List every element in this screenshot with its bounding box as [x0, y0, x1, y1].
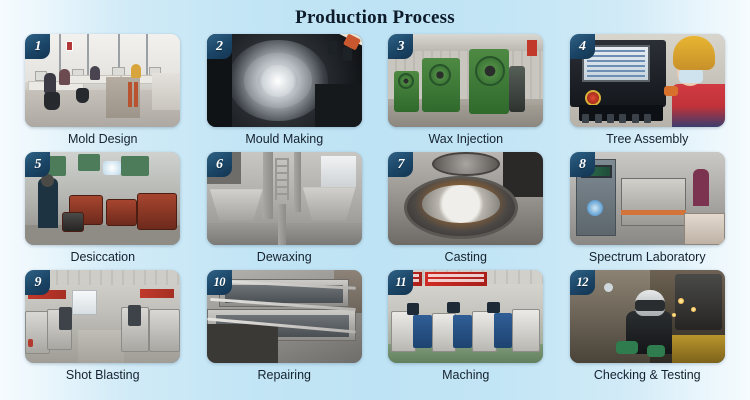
step-number-badge-7: 7 — [388, 152, 413, 177]
step-thumbnail-wrap-5[interactable]: 5 — [25, 152, 180, 245]
step-number-badge-2: 2 — [207, 34, 232, 59]
step-thumbnail-wrap-1[interactable]: 1 — [25, 34, 180, 127]
step-caption-5: Desiccation — [70, 251, 135, 265]
process-step-6[interactable]: 6 Dewaxing — [198, 152, 372, 270]
step-number-badge-3: 3 — [388, 34, 413, 59]
step-thumbnail-wrap-11[interactable]: 11 — [388, 270, 543, 363]
process-step-9[interactable]: 9 Shot Blasting — [16, 270, 190, 388]
step-caption-3: Wax Injection — [428, 133, 503, 147]
process-step-7[interactable]: 7 Casting — [379, 152, 553, 270]
step-caption-6: Dewaxing — [257, 251, 312, 265]
step-number-badge-4: 4 — [570, 34, 595, 59]
step-caption-10: Repairing — [257, 369, 311, 383]
step-caption-9: Shot Blasting — [66, 369, 140, 383]
process-step-12[interactable]: 12 Checking & Testing — [561, 270, 735, 388]
step-thumbnail-wrap-2[interactable]: 2 — [207, 34, 362, 127]
step-number-badge-11: 11 — [388, 270, 413, 295]
step-caption-7: Casting — [445, 251, 487, 265]
step-number-badge-5: 5 — [25, 152, 50, 177]
step-caption-8: Spectrum Laboratory — [589, 251, 706, 265]
process-step-1[interactable]: 1 Mold Design — [16, 34, 190, 152]
step-caption-1: Mold Design — [68, 133, 137, 147]
title-bar: Production Process — [0, 0, 750, 30]
step-caption-4: Tree Assembly — [606, 133, 688, 147]
step-number-badge-8: 8 — [570, 152, 595, 177]
step-number-badge-12: 12 — [570, 270, 595, 295]
step-thumbnail-wrap-9[interactable]: 9 — [25, 270, 180, 363]
step-thumbnail-wrap-6[interactable]: 6 — [207, 152, 362, 245]
step-thumbnail-wrap-8[interactable]: 8 — [570, 152, 725, 245]
step-thumbnail-wrap-10[interactable]: 10 — [207, 270, 362, 363]
process-step-5[interactable]: 5 Desiccation — [16, 152, 190, 270]
step-caption-2: Mould Making — [245, 133, 323, 147]
step-number-badge-10: 10 — [207, 270, 232, 295]
process-step-2[interactable]: 2 Mould Making — [198, 34, 372, 152]
step-caption-11: Maching — [442, 369, 489, 383]
step-thumbnail-wrap-12[interactable]: 12 — [570, 270, 725, 363]
step-thumbnail-wrap-4[interactable]: 4 — [570, 34, 725, 127]
process-step-8[interactable]: 8 Spectrum Laboratory — [561, 152, 735, 270]
process-step-3[interactable]: 3 Wax Injection — [379, 34, 553, 152]
step-number-badge-6: 6 — [207, 152, 232, 177]
process-steps-grid: 1 Mold Design 2 Mould Making — [0, 30, 750, 388]
process-step-4[interactable]: 4 Tree Assembly — [561, 34, 735, 152]
process-step-10[interactable]: 10 Repairing — [198, 270, 372, 388]
step-thumbnail-wrap-3[interactable]: 3 — [388, 34, 543, 127]
step-number-badge-1: 1 — [25, 34, 50, 59]
step-thumbnail-wrap-7[interactable]: 7 — [388, 152, 543, 245]
page-title: Production Process — [295, 7, 455, 29]
process-step-11[interactable]: 11 Maching — [379, 270, 553, 388]
step-caption-12: Checking & Testing — [594, 369, 701, 383]
step-number-badge-9: 9 — [25, 270, 50, 295]
